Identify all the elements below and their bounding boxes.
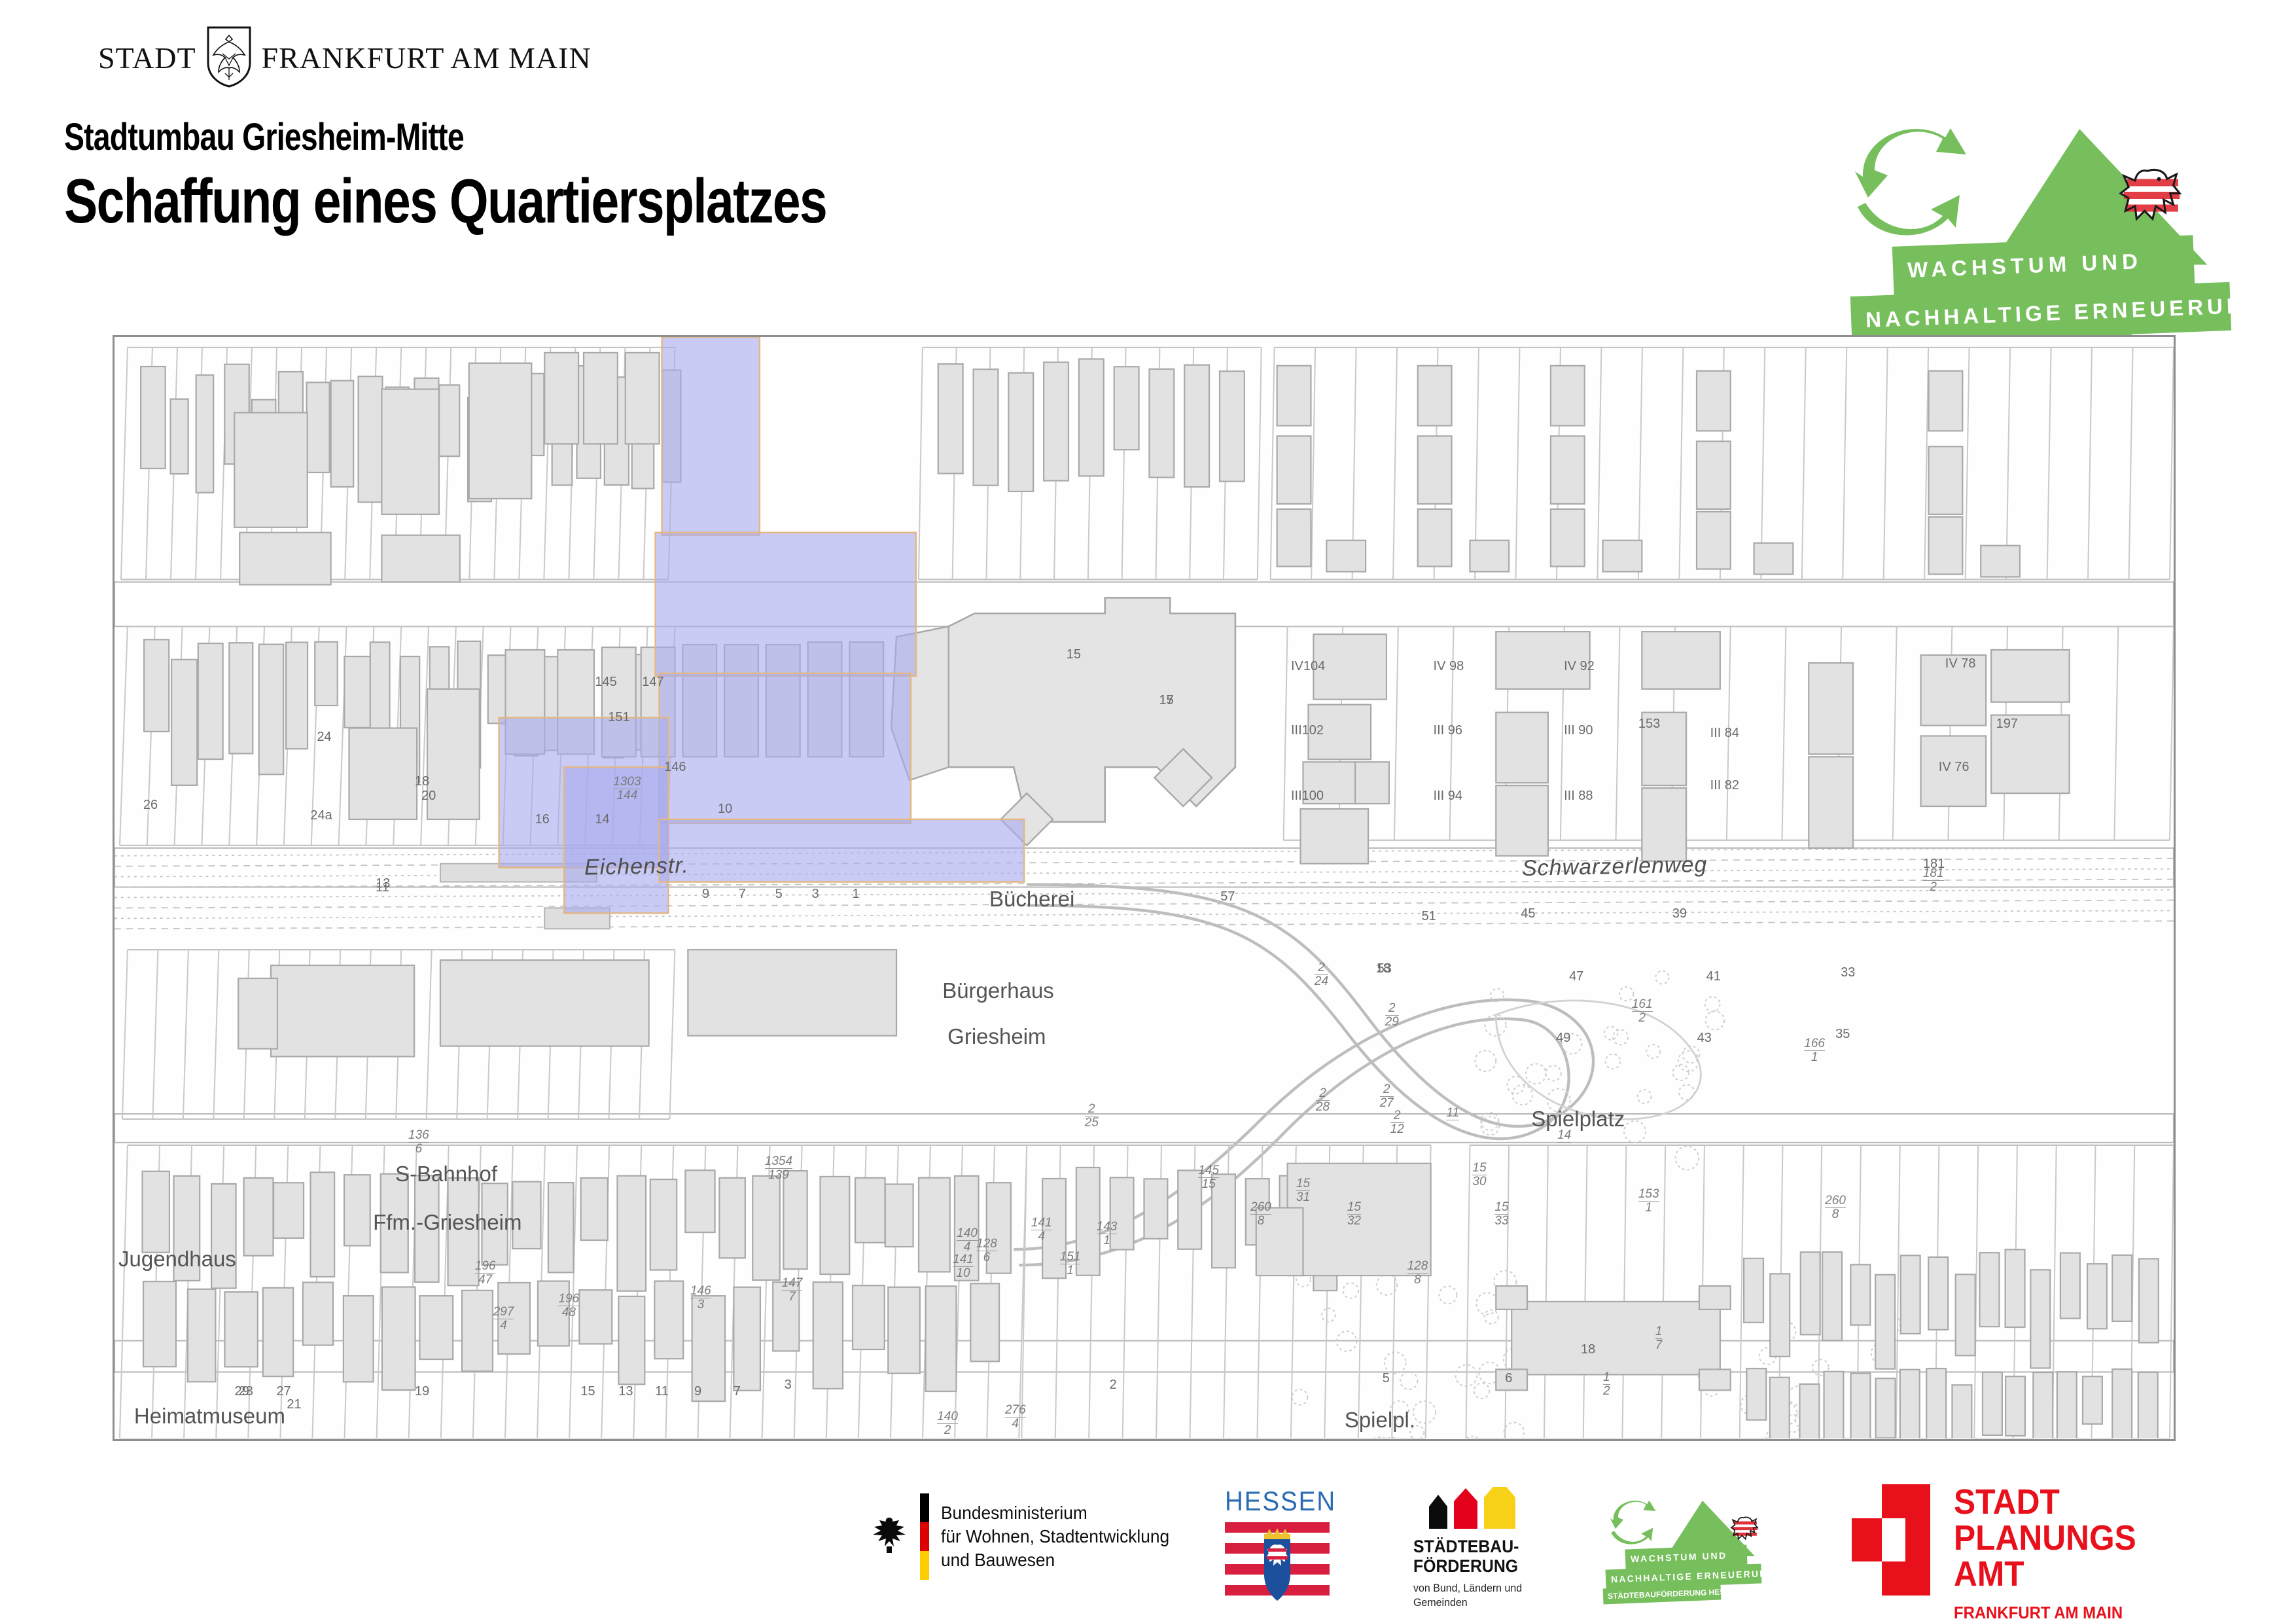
staedtebau-title-line1: STÄDTEBAU- [1413, 1537, 1552, 1556]
building [974, 369, 998, 485]
building [303, 1283, 333, 1346]
parcel-number-label: 1612 [1632, 998, 1653, 1025]
building [885, 1185, 913, 1247]
city-logo-stadt: STADT [98, 41, 196, 75]
building [344, 1296, 374, 1382]
building [359, 376, 383, 502]
building [2139, 1258, 2159, 1342]
building [271, 965, 414, 1056]
building [259, 645, 284, 775]
parcel-number-label: 19647 [475, 1260, 496, 1287]
house-number-label: 39 [1672, 906, 1687, 921]
building [813, 1282, 843, 1389]
house-number-label: 5 [1383, 1371, 1390, 1386]
building-footprints [141, 353, 2159, 1438]
building [1699, 1286, 1731, 1310]
parcel-number-label: 1661 [1804, 1037, 1825, 1064]
title-block: Stadtumbau Griesheim-Mitte Schaffung ein… [64, 115, 1017, 238]
building [239, 533, 330, 585]
building [618, 1296, 645, 1384]
building [1822, 1252, 1842, 1340]
house-number-label: 10 [718, 802, 732, 817]
house-number-label: III 96 [1434, 723, 1462, 738]
parcel-number-label: 1532 [1347, 1201, 1361, 1228]
parcel-number-label: 1531 [1638, 1188, 1659, 1215]
building [1496, 785, 1548, 856]
building [1929, 446, 1963, 514]
building [331, 381, 354, 487]
building [1697, 512, 1731, 569]
building [462, 1291, 493, 1372]
building [1809, 757, 1853, 847]
building [2057, 1372, 2077, 1438]
house-number-label: 7 [733, 1384, 741, 1399]
building [1418, 509, 1452, 567]
place-label: Bürgerhaus [942, 978, 1054, 1003]
building [1496, 713, 1548, 783]
stadtplanungsamt-logo: STADT PLANUNGS AMT FRANKFURT AM MAIN [1852, 1484, 2152, 1623]
parcel-number-label: 2608 [1825, 1194, 1846, 1221]
parcel-number-label: 1477 [782, 1277, 803, 1304]
house-number-label: 11 [655, 1384, 669, 1399]
staedtebaufoerderung-logo: STÄDTEBAU- FÖRDERUNG von Bund, Ländern u… [1413, 1487, 1564, 1609]
program-logo-small: WACHSTUM UND NACHHALTIGE ERNEUERUNG STÄD… [1603, 1493, 1799, 1598]
building [307, 382, 330, 473]
house-number-label: 20 [421, 789, 436, 804]
place-label: Heimatmuseum [134, 1404, 285, 1429]
building [144, 639, 169, 732]
recycle-arrow-icon [1855, 128, 1966, 235]
building [688, 950, 896, 1035]
house-number-label: 18 [1581, 1342, 1595, 1357]
building [888, 1287, 920, 1374]
parcel-number-label: 1812 [1923, 867, 1944, 894]
building [1496, 1286, 1527, 1310]
house-number-label: 145 [595, 675, 616, 690]
place-label: S-Bahnhof [395, 1162, 497, 1186]
parcel-number-label: 11 [1446, 1107, 1459, 1120]
building [1744, 1258, 1763, 1323]
spa-line2: PLANUNGS [1954, 1520, 2136, 1556]
house-number-label: III 94 [1434, 789, 1462, 804]
house-number-label: 19 [415, 1384, 429, 1399]
building [1301, 809, 1369, 864]
building [1551, 436, 1585, 504]
street-label: Eichenstr. [584, 853, 690, 880]
house-number-label: 24 [317, 730, 331, 745]
house-number-label: 151 [608, 710, 629, 725]
building [1875, 1275, 1895, 1369]
map-vector-layer [115, 337, 2174, 1438]
highlight-region [660, 673, 911, 823]
building [143, 1281, 176, 1366]
building [1418, 366, 1452, 426]
parcel-number-label: 19648 [558, 1293, 579, 1319]
building [719, 1178, 745, 1258]
building [381, 389, 439, 514]
building [2083, 1376, 2102, 1424]
building [783, 1171, 807, 1269]
building [469, 363, 532, 499]
house-number-label: 15 [1067, 647, 1081, 662]
building [1551, 509, 1585, 567]
building [855, 1178, 885, 1243]
building [1149, 369, 1174, 478]
building [1928, 1257, 1948, 1330]
frankfurt-eagle-crest-icon [205, 25, 253, 91]
building [263, 1288, 293, 1376]
building [1850, 1264, 1870, 1325]
house-number-label: 29 [235, 1384, 249, 1399]
place-label: Jugendhaus [118, 1247, 236, 1272]
page-title: Schaffung eines Quartiersplatzes [64, 166, 826, 238]
house-number-label: 57 [1220, 889, 1235, 904]
building [581, 1178, 608, 1240]
building [344, 1175, 370, 1245]
house-number-label: 197 [1996, 717, 2018, 732]
house-number-label: 9 [702, 887, 709, 902]
building [1220, 371, 1245, 481]
building [1697, 371, 1731, 431]
building [2112, 1255, 2132, 1321]
building [1952, 1385, 1971, 1438]
parcel-number-label: 14 [1557, 1129, 1571, 1143]
house-number-label: 35 [1835, 1027, 1850, 1042]
building [1277, 436, 1311, 504]
building [1929, 517, 1963, 575]
hessen-logo: HESSEN [1225, 1486, 1336, 1611]
street-label: Schwarzerlenweg [1522, 852, 1708, 882]
house-number-label: 24a [310, 808, 332, 823]
building [1114, 366, 1139, 450]
building [238, 978, 277, 1049]
house-number-label: 26 [143, 798, 158, 813]
parcel-number-label: 228 [1316, 1087, 1330, 1114]
building [650, 1179, 677, 1270]
building [579, 1290, 612, 1344]
house-number-label: III100 [1291, 789, 1324, 804]
hessen-wordmark: HESSEN [1225, 1486, 1327, 1517]
house-number-label: IV 92 [1564, 659, 1595, 674]
building [1770, 1378, 1790, 1438]
building [286, 643, 308, 749]
cadastral-map[interactable]: Eichenstr.SchwarzerlenwegErzbergerstr.Am… [113, 335, 2176, 1441]
building [938, 364, 963, 473]
staedtebau-sub-line2: Gemeinden [1413, 1596, 1555, 1609]
building [1926, 1368, 1946, 1438]
building [2005, 1249, 2025, 1327]
building [143, 1171, 169, 1253]
building [344, 656, 370, 728]
building [1809, 663, 1853, 754]
house-number-label: 27 [276, 1384, 291, 1399]
building [1551, 366, 1585, 426]
building [1983, 1372, 2002, 1435]
building [1981, 546, 2020, 577]
building [1956, 1274, 1975, 1355]
building [315, 642, 337, 705]
house-number-label: 43 [1697, 1031, 1712, 1046]
building [439, 385, 459, 456]
house-number-label: 6 [1505, 1371, 1512, 1386]
parcel-number-label: 1288 [1407, 1260, 1428, 1287]
parcel-number-label: 14515 [1198, 1164, 1219, 1191]
building [1900, 1370, 1920, 1438]
place-label: Bücherei [989, 887, 1074, 912]
house-number-label: III 88 [1564, 789, 1593, 804]
bmwsb-text: Bundesministerium für Wohnen, Stadtentwi… [941, 1501, 1169, 1571]
house-number-label: 13 [376, 876, 390, 891]
building [1277, 509, 1311, 567]
house-number-label: 51 [1422, 909, 1436, 924]
parcel-number-label: 1303144 [613, 776, 641, 802]
house-number-label: III 84 [1710, 726, 1739, 741]
house-number-label: 13 [618, 1384, 633, 1399]
building [1184, 365, 1209, 487]
house-number-label: 33 [1841, 965, 1855, 980]
house-number-label: 7 [739, 887, 746, 902]
house-number-label: IV 76 [1939, 760, 1969, 775]
parcel-number-label: 1366 [408, 1129, 429, 1156]
house-number-label: 9 [694, 1384, 701, 1399]
footer-logo-bar: Bundesministerium für Wohnen, Stadtentwi… [0, 1472, 2296, 1623]
building [654, 1281, 683, 1359]
building [234, 413, 308, 527]
parcel-number-label: 1286 [976, 1238, 997, 1264]
parcel-number-label: 1402 [937, 1410, 958, 1437]
house-number-label: 3 [812, 887, 819, 902]
building [188, 1289, 215, 1382]
building [1746, 1368, 1766, 1420]
place-label: Ffm.-Griesheim [373, 1210, 521, 1235]
hessen-lion-icon-small [1731, 1517, 1757, 1539]
parcel-number-label: 1414 [1031, 1217, 1052, 1243]
house-number-label: 147 [642, 675, 663, 690]
house-number-label: IV 98 [1434, 659, 1464, 674]
building [1770, 1274, 1790, 1356]
spa-line1: STADT [1954, 1484, 2136, 1520]
building [1876, 1378, 1896, 1438]
building [685, 1170, 715, 1232]
house-number-label: 153 [1638, 717, 1660, 732]
building [1929, 371, 1963, 431]
building [1008, 373, 1033, 491]
bmwsb-line1: Bundesministerium [941, 1501, 1169, 1525]
house-number-label: 21 [287, 1397, 301, 1412]
building [171, 399, 188, 474]
house-number-label: 16 [535, 812, 550, 827]
house-number-label: 3 [785, 1378, 792, 1393]
building [626, 353, 660, 444]
building [970, 1283, 999, 1361]
building [1044, 363, 1069, 481]
house-number-label: 34 [445, 1440, 459, 1441]
building [1754, 543, 1793, 575]
city-logo: STADT FRANKFURT AM MAIN [98, 25, 592, 91]
building [2112, 1369, 2132, 1438]
spa-sub: FRANKFURT AM MAIN [1954, 1603, 2136, 1623]
house-number-label: III102 [1291, 723, 1324, 738]
city-logo-frankfurt: FRANKFURT AM MAIN [262, 41, 592, 75]
building [440, 960, 649, 1046]
building [1603, 541, 1642, 572]
house-number-label: 14 [595, 812, 609, 827]
building [1697, 441, 1731, 509]
building [196, 375, 214, 493]
parcel-number-label: 1530 [1472, 1162, 1486, 1188]
building [349, 728, 417, 819]
house-number-label: 1 [852, 887, 859, 902]
house-number-label: 5 [775, 887, 783, 902]
parcel-number-label: 229 [1385, 1002, 1399, 1029]
building [919, 1178, 950, 1272]
highlight-region [662, 337, 760, 535]
house-number-label: 17 [1159, 693, 1173, 708]
bmwsb-logo: Bundesministerium für Wohnen, Stadtentwi… [870, 1493, 1184, 1580]
building [2030, 1270, 2050, 1368]
building [224, 1292, 257, 1366]
building [1699, 1369, 1731, 1390]
building [1277, 366, 1311, 426]
building [2005, 1376, 2025, 1436]
parcel-number-label: 227 [1380, 1083, 1394, 1110]
building [752, 1176, 780, 1280]
building [821, 1177, 850, 1274]
building [1642, 632, 1720, 689]
building [211, 1184, 236, 1288]
parcel-number-label: 12 [1603, 1371, 1610, 1398]
house-number-label: 49 [1556, 1031, 1570, 1046]
building [274, 1183, 304, 1238]
place-label: Spielplatz [1531, 1107, 1625, 1132]
building [853, 1285, 885, 1349]
german-flag-bar-icon [920, 1493, 929, 1580]
parcel-number-label: 1463 [690, 1285, 711, 1311]
three-houses-icon [1413, 1487, 1544, 1529]
staedtebau-sub-line1: von Bund, Ländern und [1413, 1581, 1555, 1595]
staedtebau-title-line2: FÖRDERUNG [1413, 1556, 1552, 1576]
building [370, 642, 390, 729]
house-number-label: III 82 [1710, 778, 1739, 793]
building [2138, 1372, 2158, 1438]
parcel-number-label: 1354139 [765, 1155, 792, 1182]
building [1851, 1373, 1871, 1438]
stadtplanungsamt-text: STADT PLANUNGS AMT FRANKFURT AM MAIN [1954, 1484, 2152, 1623]
building [419, 1296, 453, 1359]
building [584, 353, 618, 444]
parcel-number-label: 1431 [1097, 1221, 1118, 1247]
house-number-label: 146 [664, 760, 686, 775]
building [544, 353, 578, 444]
building [2033, 1372, 2053, 1438]
hessen-lion-icon [2121, 169, 2180, 219]
parcel-number-label: 1404 [957, 1227, 978, 1254]
building [1801, 1252, 1820, 1334]
house-number-label: 41 [1706, 969, 1721, 984]
bundesadler-icon [870, 1515, 908, 1559]
parcel-number-label: 2974 [493, 1306, 514, 1332]
building [1511, 1302, 1720, 1375]
building [1991, 650, 2070, 702]
building [617, 1176, 646, 1291]
building [171, 660, 197, 785]
building [1144, 1179, 1167, 1238]
house-number-label: III 90 [1564, 723, 1593, 738]
building [2060, 1253, 2080, 1319]
bmwsb-line3: und Bauwesen [941, 1548, 1169, 1572]
recycle-arrow-icon-small [1610, 1501, 1656, 1544]
building [244, 1178, 274, 1256]
house-number-label: 18 [415, 774, 429, 789]
highlight-region [656, 533, 916, 676]
house-number-label: IV 78 [1945, 656, 1976, 671]
highlight-region [660, 819, 1025, 882]
building [1418, 436, 1452, 504]
parcel-number-label: 2608 [1250, 1201, 1271, 1228]
building [1355, 762, 1389, 804]
building [1079, 359, 1104, 476]
bmwsb-line2: für Wohnen, Stadtentwicklung [941, 1525, 1169, 1548]
building [1980, 1253, 2000, 1327]
parcel-number-label: 1533 [1494, 1201, 1508, 1228]
building [381, 535, 460, 582]
building [1799, 1384, 1819, 1438]
building [926, 1286, 957, 1391]
house-number-label: 2 [1110, 1378, 1117, 1393]
building [141, 366, 166, 469]
building [1326, 541, 1366, 572]
building [1642, 788, 1686, 861]
parcel-number-label: 224 [1315, 961, 1328, 988]
building [311, 1172, 335, 1277]
building [1901, 1255, 1920, 1334]
parcel-number-label: 14110 [953, 1253, 974, 1280]
parcel-number-label: 225 [1085, 1103, 1099, 1130]
house-number-label: 47 [1569, 969, 1583, 984]
hessen-crest-icon [1225, 1599, 1330, 1610]
building [382, 1287, 415, 1390]
building [1470, 541, 1509, 572]
place-label: Griesheim [947, 1024, 1046, 1049]
building [229, 643, 253, 753]
parcel-number-label: 2764 [1005, 1404, 1026, 1431]
poster-page: STADT FRANKFURT AM MAIN Stadtumbau Gries… [0, 0, 2296, 1623]
parcel-number-label: 1511 [1060, 1251, 1081, 1277]
place-label: Spielpl. [1345, 1408, 1415, 1433]
building [733, 1287, 760, 1391]
parcel-number-label: 212 [1390, 1109, 1404, 1136]
building [548, 1183, 574, 1272]
building [198, 643, 223, 759]
staedtebau-title: STÄDTEBAU- FÖRDERUNG [1413, 1537, 1552, 1576]
parcel-number-label: 1531 [1296, 1177, 1310, 1204]
stadtplanungsamt-mark-icon [1852, 1484, 1930, 1599]
house-number-label: 18 [1376, 961, 1390, 976]
house-number-label: IV104 [1291, 659, 1325, 674]
house-number-label: 15 [580, 1384, 595, 1399]
building [2087, 1264, 2107, 1329]
poster-subtitle: Stadtumbau Griesheim-Mitte [64, 115, 826, 159]
house-number-label: 45 [1521, 906, 1535, 921]
parcel-number-label: 17 [1655, 1325, 1663, 1352]
house-number-label: 25 [317, 1440, 331, 1441]
building [1824, 1372, 1844, 1438]
spa-line3: AMT [1954, 1556, 2136, 1592]
staedtebau-subtitle: von Bund, Ländern und Gemeinden [1413, 1581, 1555, 1609]
